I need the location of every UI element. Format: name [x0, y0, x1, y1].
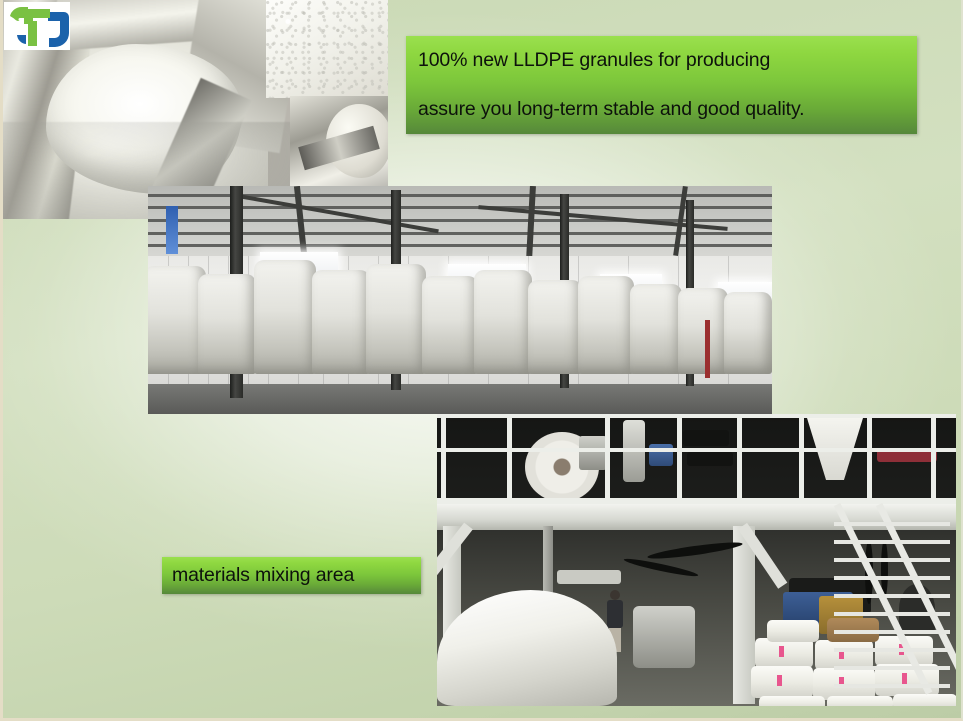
guard-rail: [437, 414, 956, 418]
product-sack: [755, 638, 813, 668]
upper-equipment: [683, 430, 729, 446]
product-sack: [759, 696, 825, 706]
cable-bundle: [647, 539, 743, 561]
company-logo[interactable]: [4, 2, 70, 50]
rail-post: [867, 414, 872, 505]
rail-post: [737, 414, 742, 505]
rail-post: [507, 414, 512, 505]
covered-material-pile: [437, 590, 617, 706]
rail-post: [677, 414, 682, 505]
headline-banner: 100% new LLDPE granules for producing as…: [406, 36, 917, 134]
slide-canvas: 100% new LLDPE granules for producing as…: [0, 0, 963, 721]
warehouse-photo: [148, 186, 772, 414]
headline-line-1: 100% new LLDPE granules for producing: [418, 36, 905, 85]
caption-text: materials mixing area: [172, 557, 411, 594]
factory-photo: [437, 414, 956, 706]
headline-line-2: assure you long-term stable and good qua…: [418, 85, 905, 134]
pillar-sign: [166, 206, 178, 254]
company-logo-icon: [4, 2, 70, 50]
granules-closeup-inset: [266, 0, 388, 98]
guard-rail: [437, 448, 956, 452]
product-sack: [751, 666, 813, 698]
rail-post: [605, 414, 610, 505]
product-sack: [767, 620, 819, 642]
cable-bundle: [623, 556, 699, 579]
rail-post: [441, 414, 446, 505]
duct: [557, 570, 621, 584]
control-box: [579, 436, 607, 470]
caption-banner: materials mixing area: [162, 557, 421, 594]
upper-equipment: [687, 452, 733, 466]
warehouse-floor: [148, 356, 772, 414]
mixer-vessel: [633, 606, 695, 668]
staircase: [834, 506, 950, 702]
rail-post: [799, 414, 804, 505]
rail-post: [931, 414, 936, 505]
